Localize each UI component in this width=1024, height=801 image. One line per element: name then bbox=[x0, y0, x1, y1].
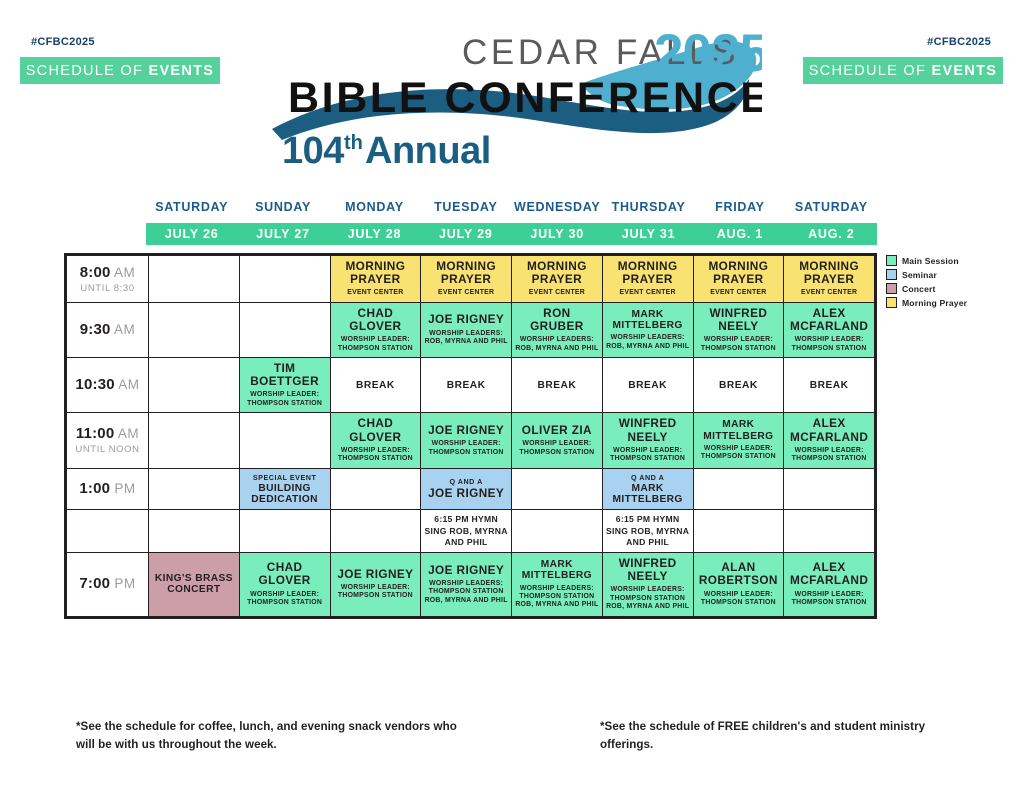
event-title: JOE RIGNEY bbox=[424, 564, 508, 577]
event-cell[interactable]: BREAK bbox=[784, 358, 875, 413]
time-cell bbox=[67, 510, 149, 553]
time-cell: 11:00 AMUNTIL NOON bbox=[67, 413, 149, 468]
event-worship-leader: EVENT CENTER bbox=[606, 289, 690, 297]
day-name: THURSDAY bbox=[603, 200, 694, 219]
event-cell[interactable]: WINFRED NEELYWORSHIP LEADER: THOMPSON ST… bbox=[693, 302, 784, 357]
event-title: BUILDING DEDICATION bbox=[243, 483, 327, 506]
event-title: MARK MITTELBERG bbox=[606, 309, 690, 332]
event-worship-leader: WORSHIP LEADER: THOMPSON STATION bbox=[697, 445, 781, 462]
time-label: 10:30 AM bbox=[69, 376, 146, 394]
event-prefix: Q AND A bbox=[606, 473, 690, 482]
legend-label: Main Session bbox=[902, 256, 959, 266]
empty-cell bbox=[149, 468, 240, 510]
time-value: 9:30 bbox=[80, 321, 111, 338]
event-title: WINFRED NEELY bbox=[606, 417, 690, 443]
schedule-row: 1:00 PMSPECIAL EVENTBUILDING DEDICATIONQ… bbox=[67, 468, 875, 510]
event-title: WINFRED NEELY bbox=[606, 557, 690, 583]
schedule-table: 8:00 AMUNTIL 8:30MORNING PRAYEREVENT CEN… bbox=[66, 255, 875, 617]
event-cell[interactable]: ALEX MCFARLANDWORSHIP LEADER: THOMPSON S… bbox=[784, 302, 875, 357]
event-cell[interactable]: JOE RIGNEYWORSHIP LEADER: THOMPSON STATI… bbox=[421, 413, 512, 468]
day-header-6: FRIDAY bbox=[694, 200, 785, 219]
event-cell[interactable]: JOE RIGNEYWORSHIP LEADERS: ROB, MYRNA AN… bbox=[421, 302, 512, 357]
event-cell[interactable]: CHAD GLOVERWORSHIP LEADER: THOMPSON STAT… bbox=[239, 552, 330, 616]
hashtag-left: #CFBC2025 bbox=[31, 36, 95, 48]
time-label: 11:00 AM bbox=[69, 425, 146, 443]
time-label: 1:00 PM bbox=[69, 480, 146, 498]
event-title: RON GRUBER bbox=[515, 307, 599, 333]
event-title: MORNING PRAYER bbox=[787, 260, 871, 286]
event-worship-leader: EVENT CENTER bbox=[697, 289, 781, 297]
date-label: JULY 28 bbox=[329, 223, 420, 245]
event-worship-leader: WORSHIP LEADER: THOMPSON STATION bbox=[515, 440, 599, 457]
schedule-row: 11:00 AMUNTIL NOONCHAD GLOVERWORSHIP LEA… bbox=[67, 413, 875, 468]
schedule-row: 7:00 PMKING'S BRASS CONCERTCHAD GLOVERWO… bbox=[67, 552, 875, 616]
event-worship-leader: WORSHIP LEADER: THOMPSON STATION bbox=[334, 447, 418, 464]
day-name: MONDAY bbox=[329, 200, 420, 219]
event-title: BREAK bbox=[606, 380, 690, 391]
time-meridiem: AM bbox=[114, 426, 139, 441]
event-prefix: Q AND A bbox=[424, 477, 508, 486]
empty-cell bbox=[149, 510, 240, 553]
empty-cell bbox=[149, 302, 240, 357]
event-cell[interactable]: SPECIAL EVENTBUILDING DEDICATION bbox=[239, 468, 330, 510]
empty-cell bbox=[239, 413, 330, 468]
event-cell[interactable]: Q AND AJOE RIGNEY bbox=[421, 468, 512, 510]
empty-cell bbox=[512, 468, 603, 510]
time-meridiem: AM bbox=[111, 265, 136, 280]
event-cell[interactable]: MORNING PRAYEREVENT CENTER bbox=[784, 256, 875, 303]
legend-swatch-icon bbox=[886, 283, 897, 294]
conference-logo: CEDAR FALLS BIBLE CONFERENCE 2025 104 th… bbox=[262, 24, 762, 169]
event-title: MORNING PRAYER bbox=[334, 260, 418, 286]
legend-swatch-icon bbox=[886, 269, 897, 280]
event-cell[interactable]: BREAK bbox=[330, 358, 421, 413]
event-worship-leader: WORSHIP LEADER: THOMPSON STATION bbox=[787, 336, 871, 353]
legend-label: Concert bbox=[902, 284, 936, 294]
day-header-7: SATURDAY bbox=[786, 200, 877, 219]
schedule-of-events-bold-right: EVENTS bbox=[931, 63, 997, 79]
event-title: BREAK bbox=[334, 380, 418, 391]
schedule-row: 8:00 AMUNTIL 8:30MORNING PRAYEREVENT CEN… bbox=[67, 256, 875, 303]
legend-label: Morning Prayer bbox=[902, 298, 967, 308]
time-value: 10:30 bbox=[75, 376, 114, 393]
time-meridiem: AM bbox=[111, 322, 136, 337]
empty-cell bbox=[512, 510, 603, 553]
time-value: 1:00 bbox=[79, 480, 110, 497]
time-cell: 9:30 AM bbox=[67, 302, 149, 357]
empty-cell bbox=[693, 510, 784, 553]
date-label: JULY 31 bbox=[603, 223, 694, 245]
event-title: ALEX MCFARLAND bbox=[787, 307, 871, 333]
event-cell[interactable]: ALEX MCFARLANDWORSHIP LEADER: THOMPSON S… bbox=[784, 413, 875, 468]
event-cell[interactable]: WINFRED NEELYWORSHIP LEADERS: THOMPSON S… bbox=[602, 552, 693, 616]
event-cell[interactable]: KING'S BRASS CONCERT bbox=[149, 552, 240, 616]
legend-item: Seminar bbox=[886, 269, 1016, 280]
event-cell[interactable]: CHAD GLOVERWORSHIP LEADER: THOMPSON STAT… bbox=[330, 413, 421, 468]
legend-swatch-icon bbox=[886, 255, 897, 266]
event-worship-leader: EVENT CENTER bbox=[334, 289, 418, 297]
empty-cell bbox=[784, 468, 875, 510]
empty-cell bbox=[149, 256, 240, 303]
empty-cell bbox=[330, 468, 421, 510]
event-title: MORNING PRAYER bbox=[424, 260, 508, 286]
schedule-row: 10:30 AMTIM BOETTGERWORSHIP LEADER: THOM… bbox=[67, 358, 875, 413]
logo-annual-word: Annual bbox=[365, 130, 491, 169]
top-banner: #CFBC2025 #CFBC2025 SCHEDULE OF EVENTS S… bbox=[0, 0, 1024, 185]
schedule-of-events-bold-left: EVENTS bbox=[148, 63, 214, 79]
event-worship-leader: WORSHIP LEADERS: THOMPSON STATION ROB, M… bbox=[515, 585, 599, 610]
time-cell: 7:00 PM bbox=[67, 552, 149, 616]
schedule-table-body: 8:00 AMUNTIL 8:30MORNING PRAYEREVENT CEN… bbox=[67, 256, 875, 617]
event-title: KING'S BRASS CONCERT bbox=[152, 573, 236, 596]
time-cell: 8:00 AMUNTIL 8:30 bbox=[67, 256, 149, 303]
legend-item: Main Session bbox=[886, 255, 1016, 266]
event-title: JOE RIGNEY bbox=[424, 313, 508, 326]
event-cell[interactable]: JOE RIGNEYWORSHIP LEADERS: THOMPSON STAT… bbox=[421, 552, 512, 616]
legend: Main SessionSeminarConcertMorning Prayer bbox=[886, 255, 1016, 311]
logo-annual-number: 104 bbox=[282, 130, 344, 169]
event-prefix: SPECIAL EVENT bbox=[243, 473, 327, 482]
logo-annual-ordinal: th bbox=[344, 132, 363, 154]
empty-cell bbox=[330, 510, 421, 553]
event-cell[interactable]: JOE RIGNEYWORSHIP LEADER: THOMPSON STATI… bbox=[330, 552, 421, 616]
time-value: 11:00 bbox=[76, 425, 115, 442]
time-subnote: UNTIL NOON bbox=[69, 444, 146, 455]
event-cell[interactable]: MORNING PRAYEREVENT CENTER bbox=[602, 256, 693, 303]
date-label: JULY 29 bbox=[420, 223, 511, 245]
event-title: TIM BOETTGER bbox=[243, 362, 327, 388]
event-title: ALEX MCFARLAND bbox=[787, 417, 871, 443]
legend-label: Seminar bbox=[902, 270, 937, 280]
time-cell: 10:30 AM bbox=[67, 358, 149, 413]
event-title: BREAK bbox=[697, 380, 781, 391]
event-title: ALAN ROBERTSON bbox=[697, 561, 781, 587]
day-name: SATURDAY bbox=[146, 200, 237, 219]
schedule-row: 9:30 AMCHAD GLOVERWORSHIP LEADER: THOMPS… bbox=[67, 302, 875, 357]
event-cell[interactable]: BREAK bbox=[421, 358, 512, 413]
schedule-grid: 8:00 AMUNTIL 8:30MORNING PRAYEREVENT CEN… bbox=[64, 253, 877, 619]
event-title: MORNING PRAYER bbox=[515, 260, 599, 286]
time-value: 7:00 bbox=[79, 575, 110, 592]
event-cell[interactable]: ALAN ROBERTSONWORSHIP LEADER: THOMPSON S… bbox=[693, 552, 784, 616]
empty-cell bbox=[693, 468, 784, 510]
event-cell[interactable]: MARK MITTELBERGWORSHIP LEADER: THOMPSON … bbox=[693, 413, 784, 468]
schedule-of-events-band-left: SCHEDULE OF EVENTS bbox=[20, 57, 220, 84]
event-worship-leader: EVENT CENTER bbox=[515, 289, 599, 297]
empty-cell bbox=[149, 413, 240, 468]
event-worship-leader: WORSHIP LEADER: THOMPSON STATION bbox=[787, 591, 871, 608]
event-title: MORNING PRAYER bbox=[606, 260, 690, 286]
event-cell[interactable]: WINFRED NEELYWORSHIP LEADER: THOMPSON ST… bbox=[602, 413, 693, 468]
time-cell: 1:00 PM bbox=[67, 468, 149, 510]
time-label: 7:00 PM bbox=[69, 575, 146, 593]
event-title: JOE RIGNEY bbox=[424, 424, 508, 437]
event-cell[interactable]: BREAK bbox=[602, 358, 693, 413]
event-worship-leader: WORSHIP LEADER: THOMPSON STATION bbox=[697, 591, 781, 608]
event-worship-leader: WORSHIP LEADER: THOMPSON STATION bbox=[243, 391, 327, 408]
event-title: 6:15 PM HYMN SING ROB, MYRNA AND PHIL bbox=[424, 514, 508, 548]
event-worship-leader: WORSHIP LEADER: THOMPSON STATION bbox=[424, 440, 508, 457]
schedule-of-events-band-right: SCHEDULE OF EVENTS bbox=[803, 57, 1003, 84]
event-cell[interactable]: MARK MITTELBERGWORSHIP LEADERS: ROB, MYR… bbox=[602, 302, 693, 357]
event-worship-leader: WORSHIP LEADERS: ROB, MYRNA AND PHIL bbox=[424, 330, 508, 347]
event-cell[interactable]: Q AND AMARK MITTELBERG bbox=[602, 468, 693, 510]
schedule-of-events-prefix-right: SCHEDULE OF bbox=[809, 63, 932, 79]
empty-cell bbox=[239, 302, 330, 357]
event-worship-leader: WORSHIP LEADER: THOMPSON STATION bbox=[697, 336, 781, 353]
event-title: MARK MITTELBERG bbox=[697, 419, 781, 442]
footnote-vendors: *See the schedule for coffee, lunch, and… bbox=[76, 718, 476, 754]
event-title: ALEX MCFARLAND bbox=[787, 561, 871, 587]
legend-swatch-icon bbox=[886, 297, 897, 308]
time-subnote: UNTIL 8:30 bbox=[69, 283, 146, 294]
time-meridiem: PM bbox=[110, 481, 136, 496]
legend-item: Morning Prayer bbox=[886, 297, 1016, 308]
event-cell[interactable]: MARK MITTELBERGWORSHIP LEADERS: THOMPSON… bbox=[512, 552, 603, 616]
event-cell[interactable]: MORNING PRAYEREVENT CENTER bbox=[421, 256, 512, 303]
date-label: JULY 26 bbox=[146, 223, 237, 245]
empty-cell bbox=[149, 358, 240, 413]
legend-item: Concert bbox=[886, 283, 1016, 294]
event-worship-leader: WORSHIP LEADERS: ROB, MYRNA AND PHIL bbox=[606, 334, 690, 351]
day-name: SUNDAY bbox=[237, 200, 328, 219]
footnote-childrens-ministry: *See the schedule of FREE children's and… bbox=[600, 718, 930, 754]
event-title: 6:15 PM HYMN SING ROB, MYRNA AND PHIL bbox=[606, 514, 690, 548]
event-cell[interactable]: RON GRUBERWORSHIP LEADERS: ROB, MYRNA AN… bbox=[512, 302, 603, 357]
event-title: CHAD GLOVER bbox=[334, 417, 418, 443]
event-cell[interactable]: BREAK bbox=[693, 358, 784, 413]
day-header-0: SATURDAY bbox=[146, 200, 237, 219]
event-cell[interactable]: 6:15 PM HYMN SING ROB, MYRNA AND PHIL bbox=[421, 510, 512, 553]
event-title: WINFRED NEELY bbox=[697, 307, 781, 333]
schedule-of-events-label-left: SCHEDULE OF EVENTS bbox=[26, 63, 215, 79]
date-label: JULY 27 bbox=[237, 223, 328, 245]
day-name: WEDNESDAY bbox=[512, 200, 603, 219]
time-meridiem: PM bbox=[110, 576, 136, 591]
logo-year: 2025 bbox=[654, 24, 762, 83]
event-title: CHAD GLOVER bbox=[243, 561, 327, 587]
event-worship-leader: WORSHIP LEADER: THOMPSON STATION bbox=[606, 447, 690, 464]
time-meridiem: AM bbox=[115, 377, 140, 392]
event-title: JOE RIGNEY bbox=[424, 487, 508, 500]
event-cell[interactable]: OLIVER ZIAWORSHIP LEADER: THOMPSON STATI… bbox=[512, 413, 603, 468]
day-name: SATURDAY bbox=[786, 200, 877, 219]
day-header-3: TUESDAY bbox=[420, 200, 511, 219]
event-title: MARK MITTELBERG bbox=[515, 559, 599, 582]
event-worship-leader: WORSHIP LEADERS: THOMPSON STATION ROB, M… bbox=[606, 586, 690, 611]
event-title: JOE RIGNEY bbox=[334, 568, 418, 581]
date-label: AUG. 2 bbox=[786, 223, 877, 245]
event-cell[interactable]: MORNING PRAYEREVENT CENTER bbox=[330, 256, 421, 303]
event-worship-leader: EVENT CENTER bbox=[787, 289, 871, 297]
schedule-of-events-label-right: SCHEDULE OF EVENTS bbox=[809, 63, 998, 79]
event-title: OLIVER ZIA bbox=[515, 424, 599, 437]
schedule-poster: #CFBC2025 #CFBC2025 SCHEDULE OF EVENTS S… bbox=[0, 0, 1024, 801]
event-cell[interactable]: 6:15 PM HYMN SING ROB, MYRNA AND PHIL bbox=[602, 510, 693, 553]
event-title: MORNING PRAYER bbox=[697, 260, 781, 286]
event-worship-leader: WORSHIP LEADER: THOMPSON STATION bbox=[334, 584, 418, 601]
schedule-of-events-prefix-left: SCHEDULE OF bbox=[26, 63, 149, 79]
day-header-2: MONDAY bbox=[329, 200, 420, 219]
time-value: 8:00 bbox=[80, 264, 111, 281]
event-title: CHAD GLOVER bbox=[334, 307, 418, 333]
event-cell[interactable]: MORNING PRAYEREVENT CENTER bbox=[512, 256, 603, 303]
day-header-4: WEDNESDAY bbox=[512, 200, 603, 219]
empty-cell bbox=[784, 510, 875, 553]
event-cell[interactable]: MORNING PRAYEREVENT CENTER bbox=[693, 256, 784, 303]
event-cell[interactable]: CHAD GLOVERWORSHIP LEADER: THOMPSON STAT… bbox=[330, 302, 421, 357]
event-cell[interactable]: TIM BOETTGERWORSHIP LEADER: THOMPSON STA… bbox=[239, 358, 330, 413]
event-cell[interactable]: ALEX MCFARLANDWORSHIP LEADER: THOMPSON S… bbox=[784, 552, 875, 616]
day-header-1: SUNDAY bbox=[237, 200, 328, 219]
date-label: AUG. 1 bbox=[694, 223, 785, 245]
hashtag-right: #CFBC2025 bbox=[927, 36, 991, 48]
schedule-row: 6:15 PM HYMN SING ROB, MYRNA AND PHIL6:1… bbox=[67, 510, 875, 553]
empty-cell bbox=[239, 256, 330, 303]
event-title: BREAK bbox=[787, 380, 871, 391]
empty-cell bbox=[239, 510, 330, 553]
event-cell[interactable]: BREAK bbox=[512, 358, 603, 413]
event-title: MARK MITTELBERG bbox=[606, 483, 690, 506]
day-name-header-row: SATURDAYSUNDAYMONDAYTUESDAYWEDNESDAYTHUR… bbox=[146, 200, 877, 219]
event-worship-leader: EVENT CENTER bbox=[424, 289, 508, 297]
day-name: FRIDAY bbox=[694, 200, 785, 219]
day-name: TUESDAY bbox=[420, 200, 511, 219]
event-worship-leader: WORSHIP LEADERS: THOMPSON STATION ROB, M… bbox=[424, 580, 508, 605]
event-worship-leader: WORSHIP LEADER: THOMPSON STATION bbox=[243, 591, 327, 608]
event-title: BREAK bbox=[515, 380, 599, 391]
date-label: JULY 30 bbox=[512, 223, 603, 245]
day-header-5: THURSDAY bbox=[603, 200, 694, 219]
event-worship-leader: WORSHIP LEADERS: ROB, MYRNA AND PHIL bbox=[515, 336, 599, 353]
date-header-strip: JULY 26JULY 27JULY 28JULY 29JULY 30JULY … bbox=[146, 223, 877, 245]
event-worship-leader: WORSHIP LEADER: THOMPSON STATION bbox=[334, 336, 418, 353]
event-title: BREAK bbox=[424, 380, 508, 391]
time-label: 9:30 AM bbox=[69, 321, 146, 339]
time-label: 8:00 AM bbox=[69, 264, 146, 282]
event-worship-leader: WORSHIP LEADER: THOMPSON STATION bbox=[787, 447, 871, 464]
